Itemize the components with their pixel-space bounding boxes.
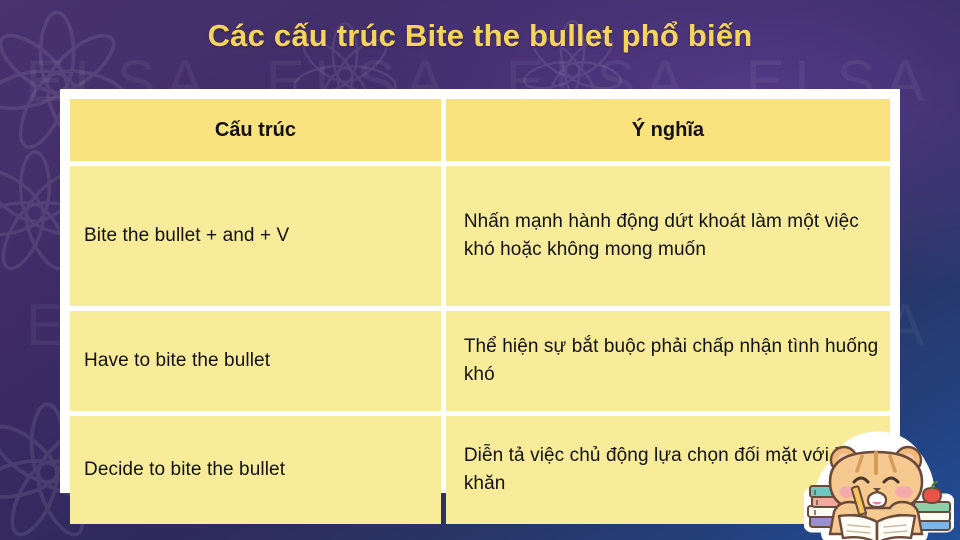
table-row: Decide to bite the bullet Diễn tả việc c… [70,416,890,524]
structures-table: Cấu trúc Ý nghĩa Bite the bullet + and +… [65,94,895,529]
table-row: Have to bite the bullet Thể hiện sự bắt … [70,311,890,411]
cell-meaning: Nhấn mạnh hành động dứt khoát làm một vi… [446,166,890,306]
cell-structure: Bite the bullet + and + V [70,166,441,306]
table-row: Bite the bullet + and + V Nhấn mạnh hành… [70,166,890,306]
page-title: Các cấu trúc Bite the bullet phổ biến [0,18,960,54]
column-header-structure: Cấu trúc [70,99,441,161]
table-header-row: Cấu trúc Ý nghĩa [70,99,890,161]
cell-meaning: Thể hiện sự bắt buộc phải chấp nhận tình… [446,311,890,411]
hamster-mascot-icon [804,422,954,540]
structures-table-container: Cấu trúc Ý nghĩa Bite the bullet + and +… [60,89,900,493]
slide-canvas: ELSA ELSA ELSA ELSA ELSA ELSA ELSA ELSA [0,0,960,540]
cell-structure: Have to bite the bullet [70,311,441,411]
column-header-meaning: Ý nghĩa [446,99,890,161]
cell-structure: Decide to bite the bullet [70,416,441,524]
